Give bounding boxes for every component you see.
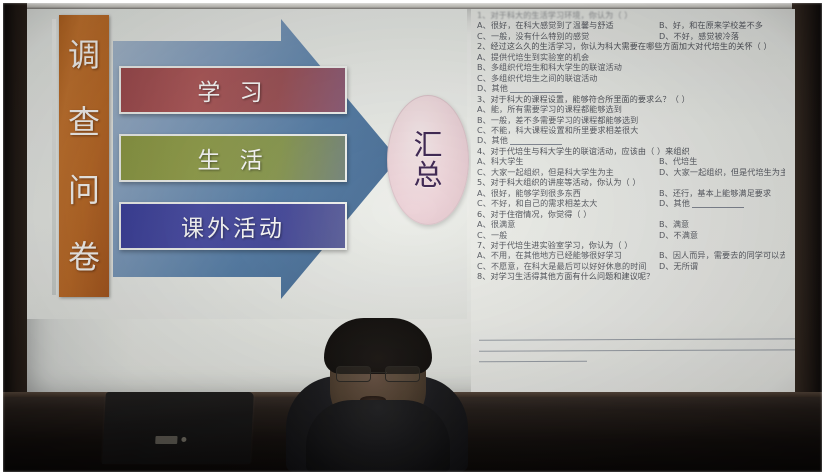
- option-left: C、一般: [477, 230, 659, 240]
- category-label-study: 学 习: [197, 73, 268, 107]
- question-option: C、不能，科大课程设置和所里要求相差很大: [477, 125, 785, 135]
- question-heading: 4、对于代培生与科大学生的联谊活动，应该由（ ）来组织: [477, 146, 785, 156]
- option-right: D、不好，感觉被冷落: [659, 31, 785, 41]
- question-option-row: A、不用，在其他地方已经能够很好学习B、因人而异，需要去的同学可以去: [477, 250, 785, 260]
- category-bar-activities: 课外活动: [119, 202, 347, 250]
- question-heading: 1、对于科大的生活学习环境，你认为（ ）: [477, 10, 785, 20]
- question-option: B、多组织代培生和科大学生的联谊活动: [477, 62, 785, 72]
- summary-char-1: 汇: [413, 130, 442, 160]
- question-option: C、多组织代培生之间的联谊活动: [477, 73, 785, 83]
- option-right: B、因人而异，需要去的同学可以去: [659, 250, 785, 260]
- option-right: D、其他: [659, 198, 785, 208]
- question-option-row: C、不愿意，在科大是最后可以好好休息的时间D、无所谓: [477, 261, 785, 271]
- option-left: A、很好，在科大感觉到了温馨与舒适: [477, 20, 659, 30]
- option-left: A、科大学生: [477, 156, 659, 166]
- option-right: B、代培生: [659, 156, 785, 166]
- laptop-logo: [155, 436, 177, 444]
- laptop-indicator: [181, 437, 186, 442]
- option-right: B、好，和在原来学校差不多: [659, 20, 785, 30]
- question-option-row: A、很好，能够学到很多东西B、还行，基本上能够满足要求: [477, 188, 785, 198]
- slide-title-banner: 调 查 问 卷: [59, 15, 109, 297]
- question-option-row: C、一般D、不满意: [477, 230, 785, 240]
- question-heading: 8、对学习生活得其他方面有什么问题和建议呢？: [477, 271, 785, 281]
- question-option-row: C、大家一起组织，但是科大学生为主D、大家一起组织，但是代培生为主: [477, 167, 785, 177]
- seated-person: [286, 314, 468, 472]
- answer-blank-lines: [479, 339, 795, 372]
- answer-line: [479, 338, 795, 340]
- answer-line: [479, 349, 795, 351]
- question-option: A、能，所有需要学习的课程都能够选到: [477, 104, 785, 114]
- question-option: A、提供代培生到实验室的机会: [477, 52, 785, 62]
- hoodie-front: [306, 400, 450, 472]
- option-left: A、不用，在其他地方已经能够很好学习: [477, 250, 659, 260]
- question-option-row: A、科大学生B、代培生: [477, 156, 785, 166]
- category-label-activities: 课外活动: [181, 209, 285, 243]
- title-char-2: 查: [68, 106, 100, 138]
- question-heading: 6、对于住宿情况，你觉得（ ）: [477, 209, 785, 219]
- summary-char-2: 总: [413, 160, 442, 190]
- category-bar-study: 学 习: [119, 66, 347, 114]
- option-left: C、大家一起组织，但是科大学生为主: [477, 167, 659, 177]
- question-option: D、其他: [477, 83, 785, 93]
- title-char-3: 问: [68, 174, 100, 206]
- question-heading: 7、对于代培生进实验室学习，你认为（ ）: [477, 240, 785, 250]
- answer-line: [479, 361, 587, 362]
- question-option: D、其他: [477, 135, 785, 145]
- question-heading: 3、对于科大的课程设置，能够符合所里面的要求么？（ ）: [477, 94, 785, 104]
- option-left: A、很满意: [477, 219, 659, 229]
- question-option-row: C、一般，没有什么特别的感觉D、不好，感觉被冷落: [477, 31, 785, 41]
- question-option-row: A、很好，在科大感觉到了温馨与舒适B、好，和在原来学校差不多: [477, 20, 785, 30]
- category-bar-life: 生 活: [119, 134, 347, 182]
- option-left: C、不好，和自己的需求相差太大: [477, 198, 659, 208]
- option-right: D、大家一起组织，但是代培生为主: [659, 167, 785, 177]
- option-left: C、不愿意，在科大是最后可以好好休息的时间: [477, 261, 659, 271]
- option-left: A、很好，能够学到很多东西: [477, 188, 659, 198]
- option-left: C、一般，没有什么特别的感觉: [477, 31, 659, 41]
- survey-diagram: 调 查 问 卷 学 习 生 活 课外活动 汇 总: [27, 9, 467, 319]
- option-right: B、还行，基本上能够满足要求: [659, 188, 785, 198]
- category-label-life: 生 活: [197, 141, 268, 175]
- option-right: D、无所谓: [659, 261, 785, 271]
- option-right: D、不满意: [659, 230, 785, 240]
- title-char-1: 调: [68, 39, 100, 71]
- banner-highlight: [52, 19, 56, 295]
- option-right: B、满意: [659, 219, 785, 229]
- summary-ellipse: 汇 总: [387, 95, 469, 225]
- question-option-row: A、很满意B、满意: [477, 219, 785, 229]
- photograph: 调 查 问 卷 学 习 生 活 课外活动 汇 总 1、对于科大的生活学习环境，你…: [0, 0, 825, 475]
- question-option: B、一般，差不多需要学习的课程都能够选到: [477, 115, 785, 125]
- glasses-icon: [336, 366, 420, 380]
- question-option-row: C、不好，和自己的需求相差太大D、其他: [477, 198, 785, 208]
- title-char-4: 卷: [68, 241, 100, 273]
- laptop-lid: [102, 392, 254, 464]
- question-heading: 2、经过这么久的生活学习，你认为科大需要在哪些方面加大对代培生的关怀（ ）: [477, 41, 785, 51]
- question-heading: 5、对于科大组织的讲座等活动，你认为（ ）: [477, 177, 785, 187]
